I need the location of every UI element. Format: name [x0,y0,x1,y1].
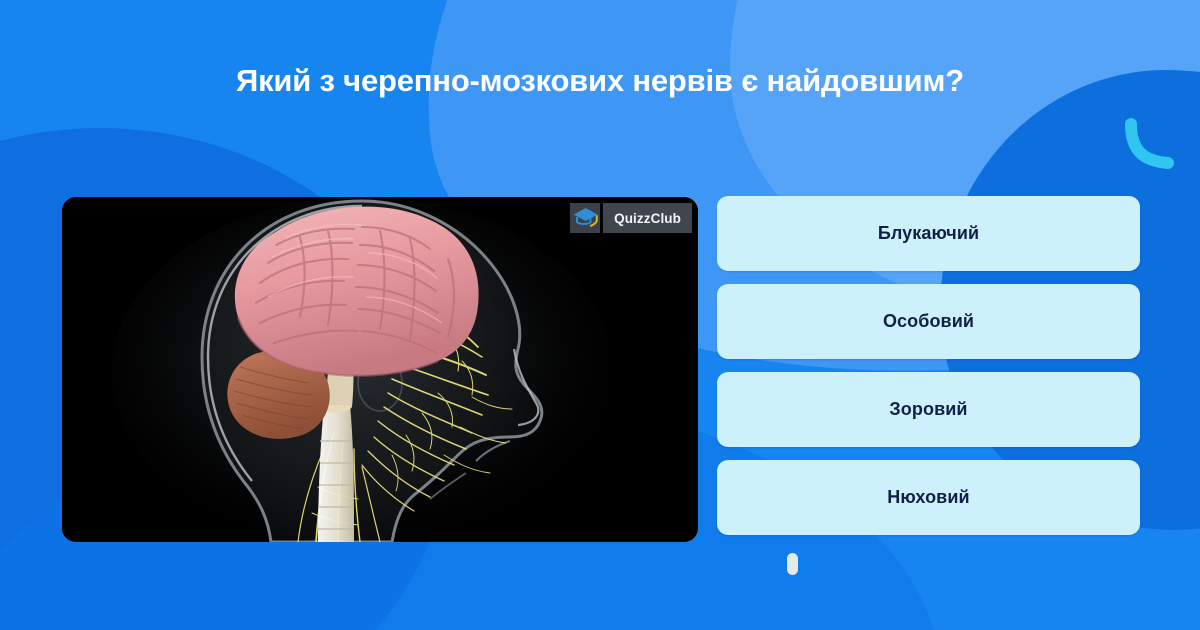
answer-option-1[interactable]: Блукаючий [717,196,1140,271]
answer-option-4[interactable]: Нюховий [717,460,1140,535]
graduation-cap-icon [570,203,600,233]
question-image-card: QuizzClub [62,197,698,542]
question-header: Який з черепно-мозкових нервів є найдовш… [0,62,1200,99]
cyan-arc-icon [1124,118,1178,172]
brand-name: QuizzClub [603,203,692,233]
answer-option-3[interactable]: Зоровий [717,372,1140,447]
answer-option-label: Зоровий [889,399,967,420]
answer-option-label: Особовий [883,311,974,332]
answer-list-notch-marker [787,553,798,575]
answer-option-label: Блукаючий [878,223,979,244]
quiz-card: Який з черепно-мозкових нервів є найдовш… [0,0,1200,630]
brand-badge: QuizzClub [570,203,692,233]
question-text: Який з черепно-мозкових нервів є найдовш… [40,62,1160,99]
brain-anatomy-illustration [62,197,698,542]
answer-options-list: Блукаючий Особовий Зоровий Нюховий [717,196,1140,535]
answer-option-label: Нюховий [887,487,969,508]
answer-option-2[interactable]: Особовий [717,284,1140,359]
